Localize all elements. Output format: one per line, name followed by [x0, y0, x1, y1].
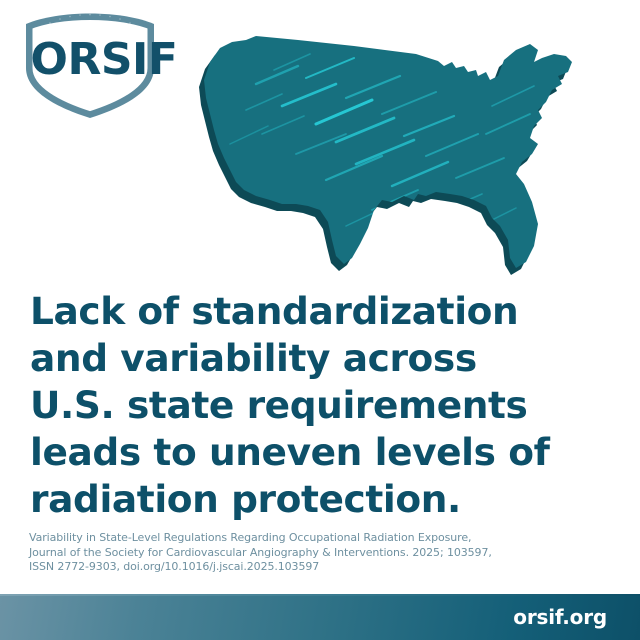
headline: Lack of standardization and variability … — [30, 288, 590, 523]
citation-line-3: ISSN 2772-9303, doi.org/10.1016/j.jscai.… — [29, 560, 589, 575]
headline-line-4: leads to uneven levels of — [30, 429, 590, 476]
website-url[interactable]: orsif.org — [513, 605, 640, 629]
poster-canvas: ORSIF — [0, 0, 640, 640]
orsif-logo[interactable]: ORSIF — [14, 8, 194, 120]
citation-line-2: Journal of the Society for Cardiovascula… — [29, 546, 589, 561]
logo-wordmark: ORSIF — [28, 38, 180, 82]
citation: Variability in State-Level Regulations R… — [29, 531, 589, 575]
headline-line-1: Lack of standardization — [30, 288, 590, 335]
headline-line-2: and variability across — [30, 335, 590, 382]
citation-line-1: Variability in State-Level Regulations R… — [29, 531, 589, 546]
us-map-graphic — [186, 14, 590, 286]
headline-line-5: radiation protection. — [30, 476, 590, 523]
united-states-map — [186, 14, 590, 286]
footer-bar: orsif.org — [0, 594, 640, 640]
headline-line-3: U.S. state requirements — [30, 382, 590, 429]
